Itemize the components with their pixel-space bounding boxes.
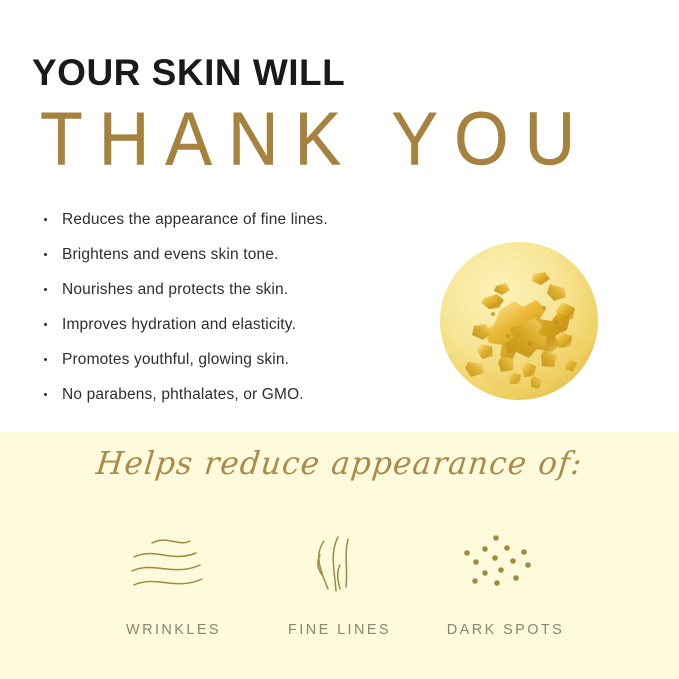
benefit-item-fine-lines: FINE LINES: [257, 524, 423, 638]
benefit-item-wrinkles: WRINKLES: [91, 524, 257, 638]
benefits-list: Reduces the appearance of fine lines. Br…: [40, 212, 440, 422]
bullet-dot-icon: [44, 253, 47, 256]
bullet-dot-icon: [44, 288, 47, 291]
benefit-text: Improves hydration and elasticity.: [62, 316, 296, 333]
benefits-band-section: Helps reduce appearance of: WRINKLES: [0, 432, 679, 679]
list-item: No parabens, phthalates, or GMO.: [40, 387, 440, 403]
benefit-label: DARK SPOTS: [447, 622, 564, 638]
promo-graphic: YOUR SKIN WILL THANK YOU Reduces the app…: [0, 0, 679, 679]
bullet-dot-icon: [44, 358, 47, 361]
band-title: Helps reduce appearance of:: [0, 446, 679, 483]
benefit-text: Reduces the appearance of fine lines.: [62, 211, 328, 228]
list-item: Reduces the appearance of fine lines.: [40, 212, 440, 228]
bullet-dot-icon: [44, 393, 47, 396]
list-item: Nourishes and protects the skin.: [40, 282, 440, 298]
curved-vertical-lines-icon: [290, 524, 390, 604]
headline-primary: YOUR SKIN WILL: [32, 54, 345, 91]
icon-row: WRINKLES FINE LINES: [0, 524, 679, 638]
bullet-dot-icon: [44, 323, 47, 326]
scattered-dots-icon: [456, 524, 556, 604]
benefit-label: WRINKLES: [126, 622, 221, 638]
benefit-label: FINE LINES: [288, 622, 391, 638]
list-item: Brightens and evens skin tone.: [40, 247, 440, 263]
hero-section: YOUR SKIN WILL THANK YOU Reduces the app…: [0, 0, 679, 432]
wavy-horizontal-lines-icon: [124, 524, 224, 604]
list-item: Improves hydration and elasticity.: [40, 317, 440, 333]
benefit-text: Promotes youthful, glowing skin.: [62, 351, 289, 368]
headline-secondary: THANK YOU: [40, 101, 591, 177]
benefit-text: Nourishes and protects the skin.: [62, 281, 288, 298]
list-item: Promotes youthful, glowing skin.: [40, 352, 440, 368]
benefit-item-dark-spots: DARK SPOTS: [423, 524, 589, 638]
benefit-text: Brightens and evens skin tone.: [62, 246, 278, 263]
bullet-dot-icon: [44, 218, 47, 221]
benefit-text: No parabens, phthalates, or GMO.: [62, 386, 304, 403]
product-image: [438, 240, 600, 402]
